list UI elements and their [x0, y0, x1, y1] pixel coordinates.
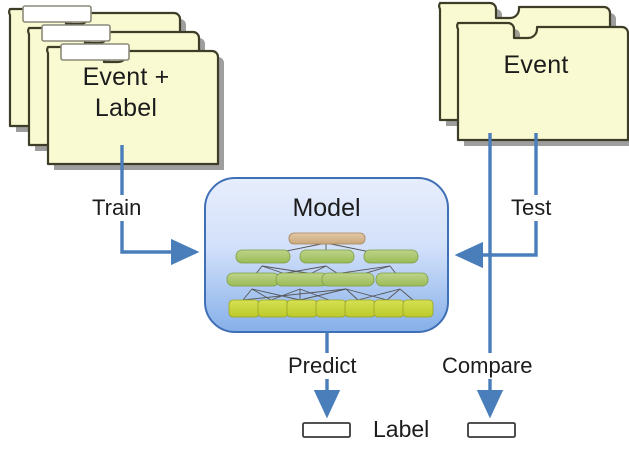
caption-line-2: Label [40, 93, 212, 124]
diagram-canvas: Event + Label Event Model Train Test Pre… [0, 0, 629, 463]
edge-label-compare: Compare [439, 353, 535, 379]
center-label-text: Label [373, 416, 429, 443]
model-title: Model [205, 194, 448, 223]
compare-output-box[interactable] [468, 423, 515, 437]
caption-line-1: Event + [40, 62, 212, 93]
predict-output-box[interactable] [303, 423, 350, 437]
connector-test [458, 133, 536, 255]
caption-line-1: Event [452, 50, 620, 81]
folder-stack-event-label-caption: Event + Label [40, 62, 212, 123]
edge-label-predict: Predict [285, 353, 359, 379]
folder-stack-event-caption: Event [452, 50, 620, 81]
edge-label-train: Train [89, 195, 144, 221]
edge-label-test: Test [508, 195, 554, 221]
